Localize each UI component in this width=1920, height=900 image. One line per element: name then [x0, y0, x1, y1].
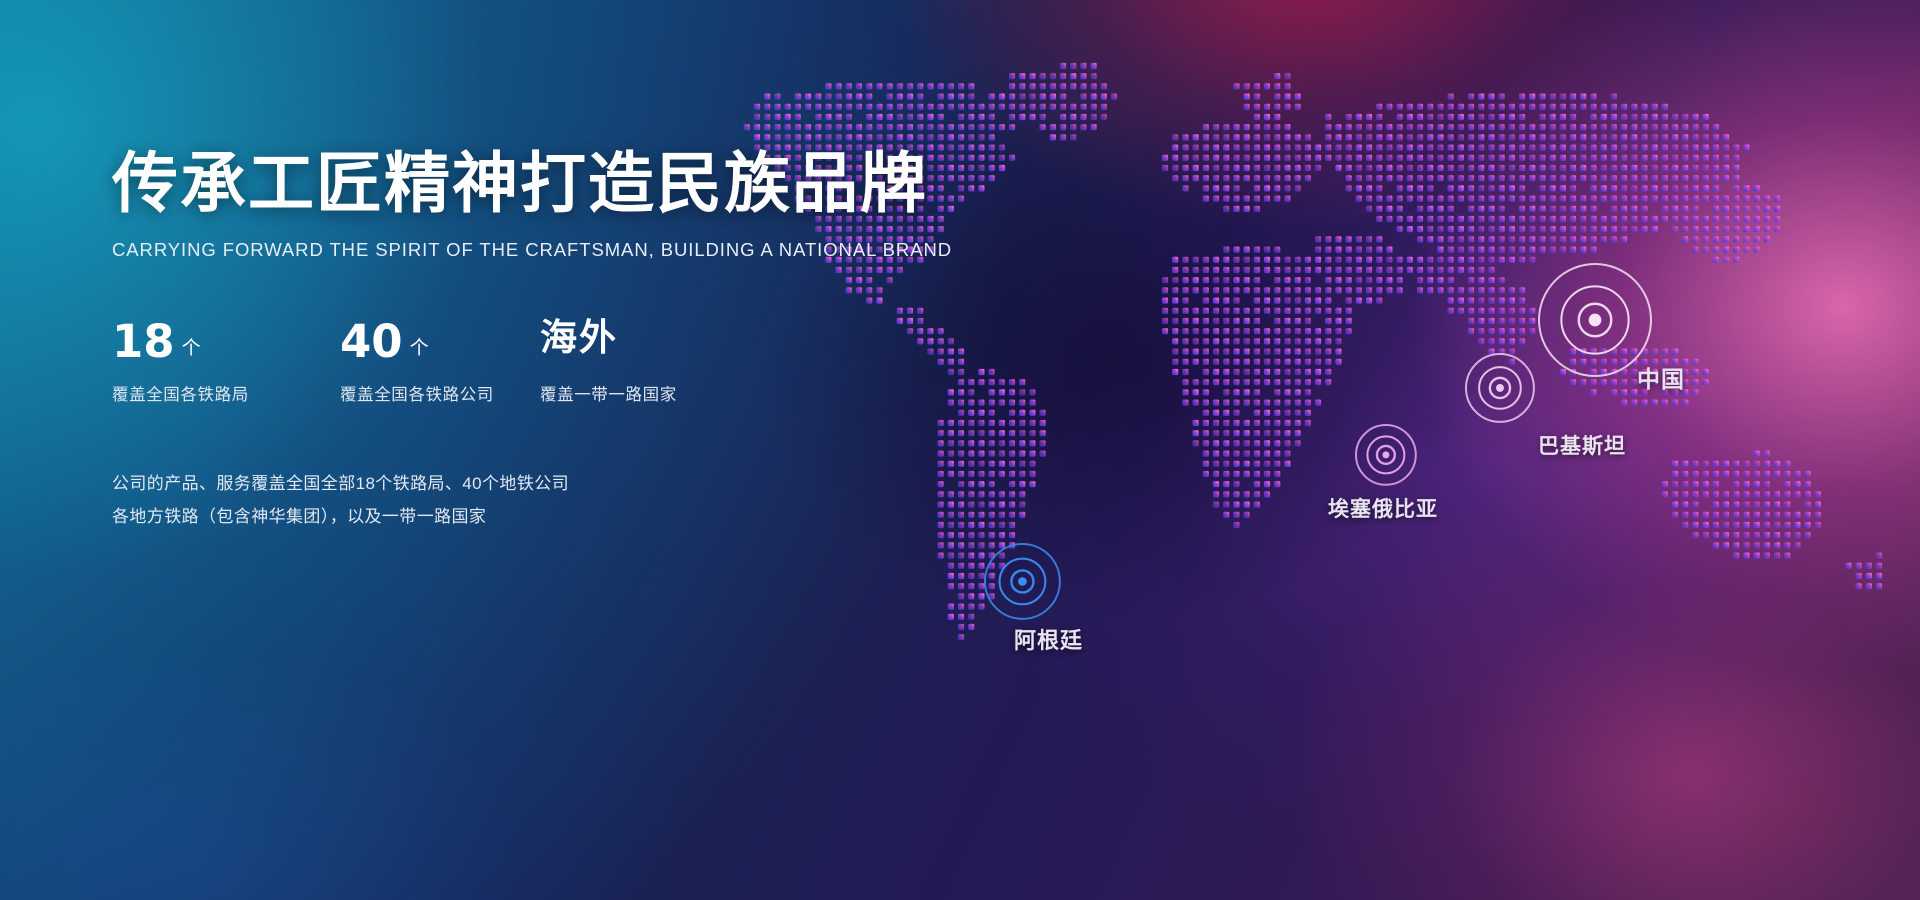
stat-unit: 个 — [182, 333, 201, 360]
stat-item: 18个覆盖全国各铁路局 — [112, 319, 340, 405]
map-marker-label-argentina: 阿根廷 — [1014, 623, 1083, 655]
map-marker-pakistan[interactable]: 巴基斯坦 — [1464, 352, 1536, 424]
stat-value: 18 — [112, 319, 175, 364]
stat-label: 覆盖一带一路国家 — [540, 381, 677, 405]
map-marker-label-china: 中国 — [1637, 360, 1685, 394]
stat-item: 40个覆盖全国各铁路公司 — [340, 319, 540, 405]
map-marker-argentina[interactable]: 阿根廷 — [983, 542, 1062, 621]
stats-row: 18个覆盖全国各铁路局40个覆盖全国各铁路公司海外覆盖一带一路国家 — [112, 319, 932, 405]
banner-stage: 中国巴基斯坦埃塞俄比亚阿根廷 传承工匠精神打造民族品牌 CARRYING FOR… — [0, 0, 1920, 900]
stat-value: 海外 — [540, 319, 618, 356]
map-marker-ethiopia[interactable]: 埃塞俄比亚 — [1354, 423, 1418, 487]
description-line: 各地方铁路（包含神华集团），以及一带一路国家 — [112, 500, 932, 533]
marker-rings-icon — [1537, 262, 1653, 378]
page-subtitle: CARRYING FORWARD THE SPIRIT OF THE CRAFT… — [112, 239, 932, 261]
content-block: 传承工匠精神打造民族品牌 CARRYING FORWARD THE SPIRIT… — [112, 150, 932, 534]
map-marker-label-pakistan: 巴基斯坦 — [1538, 430, 1626, 460]
marker-rings-icon — [1464, 352, 1536, 424]
stat-label: 覆盖全国各铁路公司 — [340, 381, 540, 405]
stat-value-row: 18个 — [112, 319, 340, 369]
stat-unit: 个 — [410, 333, 429, 360]
map-marker-label-ethiopia: 埃塞俄比亚 — [1328, 493, 1438, 523]
description-paragraph: 公司的产品、服务覆盖全国全部18个铁路局、40个地铁公司各地方铁路（包含神华集团… — [112, 467, 932, 533]
description-line: 公司的产品、服务覆盖全国全部18个铁路局、40个地铁公司 — [112, 467, 932, 500]
stat-value-row: 40个 — [340, 319, 540, 369]
page-title: 传承工匠精神打造民族品牌 — [112, 150, 932, 217]
marker-rings-icon — [1354, 423, 1418, 487]
stat-label: 覆盖全国各铁路局 — [112, 381, 340, 405]
stat-value: 40 — [340, 319, 403, 364]
map-marker-china[interactable]: 中国 — [1537, 262, 1653, 378]
marker-rings-icon — [983, 542, 1062, 621]
stat-item: 海外覆盖一带一路国家 — [540, 319, 677, 405]
stat-value-row: 海外 — [540, 319, 677, 369]
